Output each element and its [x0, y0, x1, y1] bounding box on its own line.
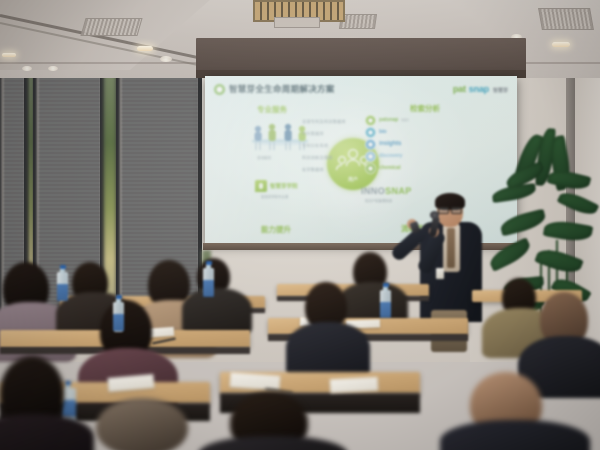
brand-part-snap: snap [469, 84, 489, 94]
academy-name: 智慧芽学院 [270, 182, 298, 190]
water-bottle[interactable] [203, 268, 214, 296]
water-bottle[interactable] [57, 272, 68, 300]
product-row: bio [365, 126, 435, 138]
center-user-label: 用户 [327, 176, 379, 183]
illustration-caption: 咨询服务 [257, 156, 271, 161]
academy-icon [255, 180, 267, 192]
ceiling-light-4 [552, 42, 570, 47]
feature-item: 全球专利及科技数据库 [302, 116, 360, 128]
projection-screen: 智慧芽全生命周期解决方案 pat snap 智慧芽 专业服务 检索分析 能力提升… [205, 76, 517, 244]
product-name: patsnap [379, 117, 398, 123]
academy-logo: 智慧芽学院 [255, 180, 298, 192]
slide-brand-logo: pat snap 智慧芽 [453, 84, 508, 94]
audience-shoulders [182, 288, 252, 334]
audience-shoulders [198, 436, 348, 450]
product-name: chemical [379, 165, 400, 171]
product-row: chemical [365, 162, 435, 174]
feature-item: 中外数据库 [302, 128, 360, 140]
brand-chinese: 智慧芽 [493, 87, 508, 94]
audience-head [96, 398, 188, 450]
projector-housing [274, 17, 320, 28]
product-name: insights [379, 141, 401, 147]
bottle-label [57, 284, 68, 301]
feature-list: 全球专利及科技数据库 中外数据库 专利分析系统 科技创新及情报 化学数据库 [302, 116, 360, 176]
feature-item: 化学数据库 [302, 164, 360, 176]
ceiling-downlight-3 [160, 56, 172, 62]
product-sub: 智慧芽 [401, 118, 409, 122]
slide-title-group: 智慧芽全生命周期解决方案 [214, 83, 335, 95]
bottle-label [113, 314, 124, 331]
feature-item: 科技创新及情报 [302, 152, 360, 164]
discovery-icon [365, 151, 376, 162]
glasses-icon [438, 207, 462, 212]
slide-content: 智慧芽全生命周期解决方案 pat snap 智慧芽 专业服务 检索分析 能力提升… [205, 76, 517, 244]
slide-heading-bottom-left: 能力提升 [261, 224, 291, 235]
product-row: patsnap 智慧芽 [365, 114, 435, 126]
innosnap-part2: SNAP [385, 186, 412, 196]
ceiling-light-2 [137, 46, 153, 51]
microphone-head-icon [430, 211, 439, 219]
ceiling-air-vent-3 [538, 8, 594, 30]
patsnap-leaf-icon [214, 84, 225, 95]
bottle-label [380, 302, 391, 319]
innosnap-sub: 知识产权管理系统 [365, 198, 392, 203]
paper-sheet [330, 377, 379, 393]
ceiling-downlight-1 [22, 66, 32, 71]
water-bottle[interactable] [380, 290, 391, 317]
audience-shoulders [440, 420, 590, 450]
ceiling-air-vent-1 [80, 18, 142, 36]
innosnap-part1: INNO [361, 186, 385, 196]
academy-sub: 智慧芽学院专业课 [261, 194, 288, 199]
ceiling-downlight-2 [48, 66, 58, 71]
speaker-tie [447, 228, 455, 268]
ceiling-light-1 [2, 53, 16, 57]
water-bottle[interactable] [113, 302, 124, 332]
brand-part-pat: pat [453, 84, 466, 94]
slide-heading-top-right: 检索分析 [410, 103, 440, 114]
product-name: discovery [379, 153, 402, 159]
bottle-label [203, 280, 214, 297]
feature-item: 专利分析系统 [302, 140, 360, 152]
insights-icon [365, 139, 376, 150]
audience-shoulders [286, 322, 370, 378]
bottle-label [62, 400, 76, 417]
innosnap-logo: INNOSNAP [361, 186, 412, 196]
chemical-icon [365, 163, 376, 174]
product-row: discovery [365, 150, 435, 162]
speaker-name-badge [436, 268, 444, 279]
patsnap-icon [365, 115, 376, 126]
product-list: patsnap 智慧芽 bio insights discovery [365, 114, 435, 174]
presentation-room-photo: 智慧芽全生命周期解决方案 pat snap 智慧芽 专业服务 检索分析 能力提升… [0, 0, 600, 450]
bio-icon [365, 127, 376, 138]
product-row: insights [365, 138, 435, 150]
slide-title: 智慧芽全生命周期解决方案 [229, 83, 335, 95]
product-name: bio [379, 129, 386, 135]
slide-heading-top-left: 专业服务 [257, 104, 287, 115]
